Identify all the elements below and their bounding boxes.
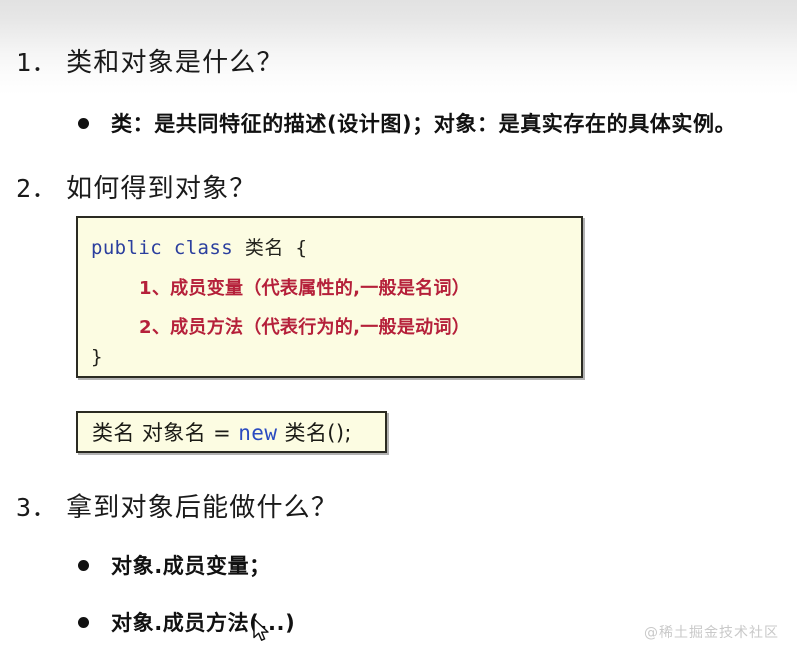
code-keyword-public-class: public class xyxy=(91,237,233,259)
code-line-member-variable: 1、成员变量（代表属性的,一般是名词） xyxy=(139,274,470,300)
question-text-2: 如何得到对象？ xyxy=(66,168,256,205)
new-statement-prefix: 类名 对象名 = xyxy=(92,421,238,445)
question-text-1: 类和对象是什么？ xyxy=(66,42,284,79)
bullet-text-member-variable: 对象.成员变量； xyxy=(111,550,271,580)
bullet-text-member-method: 对象.成员方法(...) xyxy=(111,607,295,637)
question-item-1: 1． 类和对象是什么？ xyxy=(16,42,284,79)
question-number-3: 3． xyxy=(16,488,57,524)
bullet-dot-icon xyxy=(78,118,89,129)
new-statement-suffix: 类名(); xyxy=(277,421,352,445)
code-line-class-declaration: public class 类名 { xyxy=(91,233,307,260)
bullet-dot-icon xyxy=(78,560,89,571)
question-item-2: 2． 如何得到对象？ xyxy=(16,168,256,205)
watermark-label: @稀土掘金技术社区 xyxy=(644,622,779,642)
slide-canvas: 1． 类和对象是什么？ 类：是共同特征的描述(设计图)；对象：是真实存在的具体实… xyxy=(0,0,797,656)
question-text-3: 拿到对象后能做什么？ xyxy=(66,487,338,524)
new-keyword: new xyxy=(238,421,277,445)
bullet-item-definition: 类：是共同特征的描述(设计图)；对象：是真实存在的具体实例。 xyxy=(78,108,736,138)
class-definition-code-block: public class 类名 { 1、成员变量（代表属性的,一般是名词） 2、… xyxy=(76,216,583,378)
object-creation-code-box: 类名 对象名 = new 类名(); xyxy=(76,411,387,453)
bullet-item-member-variable: 对象.成员变量； xyxy=(78,550,271,580)
bullet-dot-icon xyxy=(78,617,89,628)
question-number-2: 2． xyxy=(16,169,57,205)
bullet-text-definition: 类：是共同特征的描述(设计图)；对象：是真实存在的具体实例。 xyxy=(111,108,736,138)
code-line-closing-brace: } xyxy=(91,346,102,368)
question-item-3: 3． 拿到对象后能做什么？ xyxy=(16,487,338,524)
new-statement-line: 类名 对象名 = new 类名(); xyxy=(92,417,352,447)
question-number-1: 1． xyxy=(16,43,57,79)
code-line-member-method: 2、成员方法（代表行为的,一般是动词） xyxy=(139,313,470,339)
code-classname-brace: 类名 { xyxy=(233,237,307,259)
bullet-item-member-method: 对象.成员方法(...) xyxy=(78,607,295,637)
